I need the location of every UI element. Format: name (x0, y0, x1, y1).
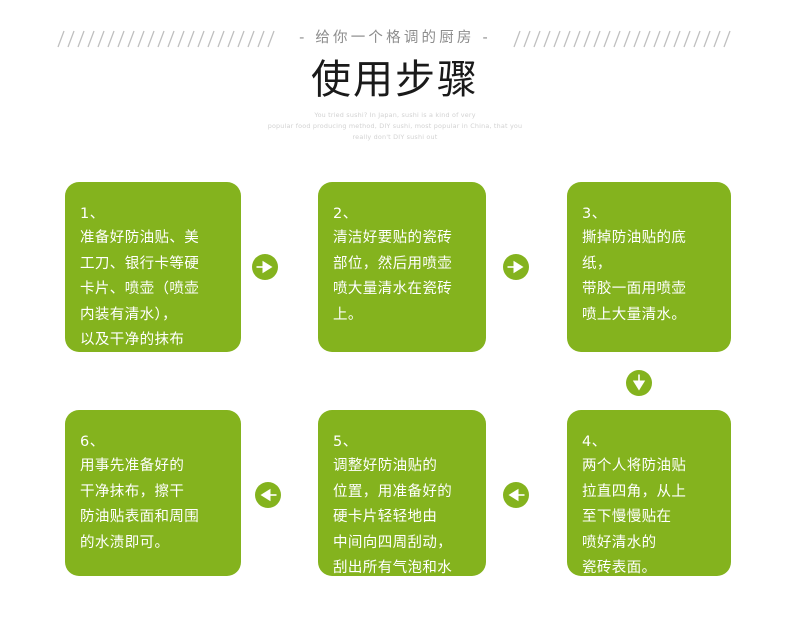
step-number-1: 1、 (80, 204, 226, 225)
step-text-5: 调整好防油贴的 位置，用准备好的 硬卡片轻轻地由 中间向四周刮动， 刮出所有气泡… (333, 454, 471, 582)
steps-flow: 1、 准备好防油贴、美 工刀、银行卡等硬 卡片、喷壶（喷壶 内装有清水）， 以及… (0, 0, 790, 641)
arrow-right-circle-icon (503, 254, 529, 280)
step-number-6: 6、 (80, 432, 226, 453)
step-card-6: 6、 用事先准备好的 干净抹布，擦干 防油贴表面和周围 的水渍即可。 (65, 410, 241, 576)
step-card-1: 1、 准备好防油贴、美 工刀、银行卡等硬 卡片、喷壶（喷壶 内装有清水）， 以及… (65, 182, 241, 352)
step-text-2: 清洁好要贴的瓷砖 部位，然后用喷壶 喷大量清水在瓷砖 上。 (333, 226, 471, 328)
step-number-4: 4、 (582, 432, 716, 453)
step-number-3: 3、 (582, 204, 716, 225)
step-text-4: 两个人将防油贴 拉直四角，从上 至下慢慢贴在 喷好清水的 瓷砖表面。 (582, 454, 716, 582)
arrow-left-circle-icon (255, 482, 281, 508)
step-card-3: 3、 撕掉防油贴的底纸， 带胶一面用喷壶 喷上大量清水。 (567, 182, 731, 352)
step-text-3: 撕掉防油贴的底纸， 带胶一面用喷壶 喷上大量清水。 (582, 226, 716, 328)
arrow-right-circle-icon (252, 254, 278, 280)
step-text-6: 用事先准备好的 干净抹布，擦干 防油贴表面和周围 的水渍即可。 (80, 454, 226, 556)
arrow-left-circle-icon (503, 482, 529, 508)
step-text-1: 准备好防油贴、美 工刀、银行卡等硬 卡片、喷壶（喷壶 内装有清水）， 以及干净的… (80, 226, 226, 354)
step-number-5: 5、 (333, 432, 471, 453)
step-number-2: 2、 (333, 204, 471, 225)
step-card-2: 2、 清洁好要贴的瓷砖 部位，然后用喷壶 喷大量清水在瓷砖 上。 (318, 182, 486, 352)
arrow-down-circle-icon (626, 370, 652, 396)
step-card-5: 5、 调整好防油贴的 位置，用准备好的 硬卡片轻轻地由 中间向四周刮动， 刮出所… (318, 410, 486, 576)
step-card-4: 4、 两个人将防油贴 拉直四角，从上 至下慢慢贴在 喷好清水的 瓷砖表面。 (567, 410, 731, 576)
